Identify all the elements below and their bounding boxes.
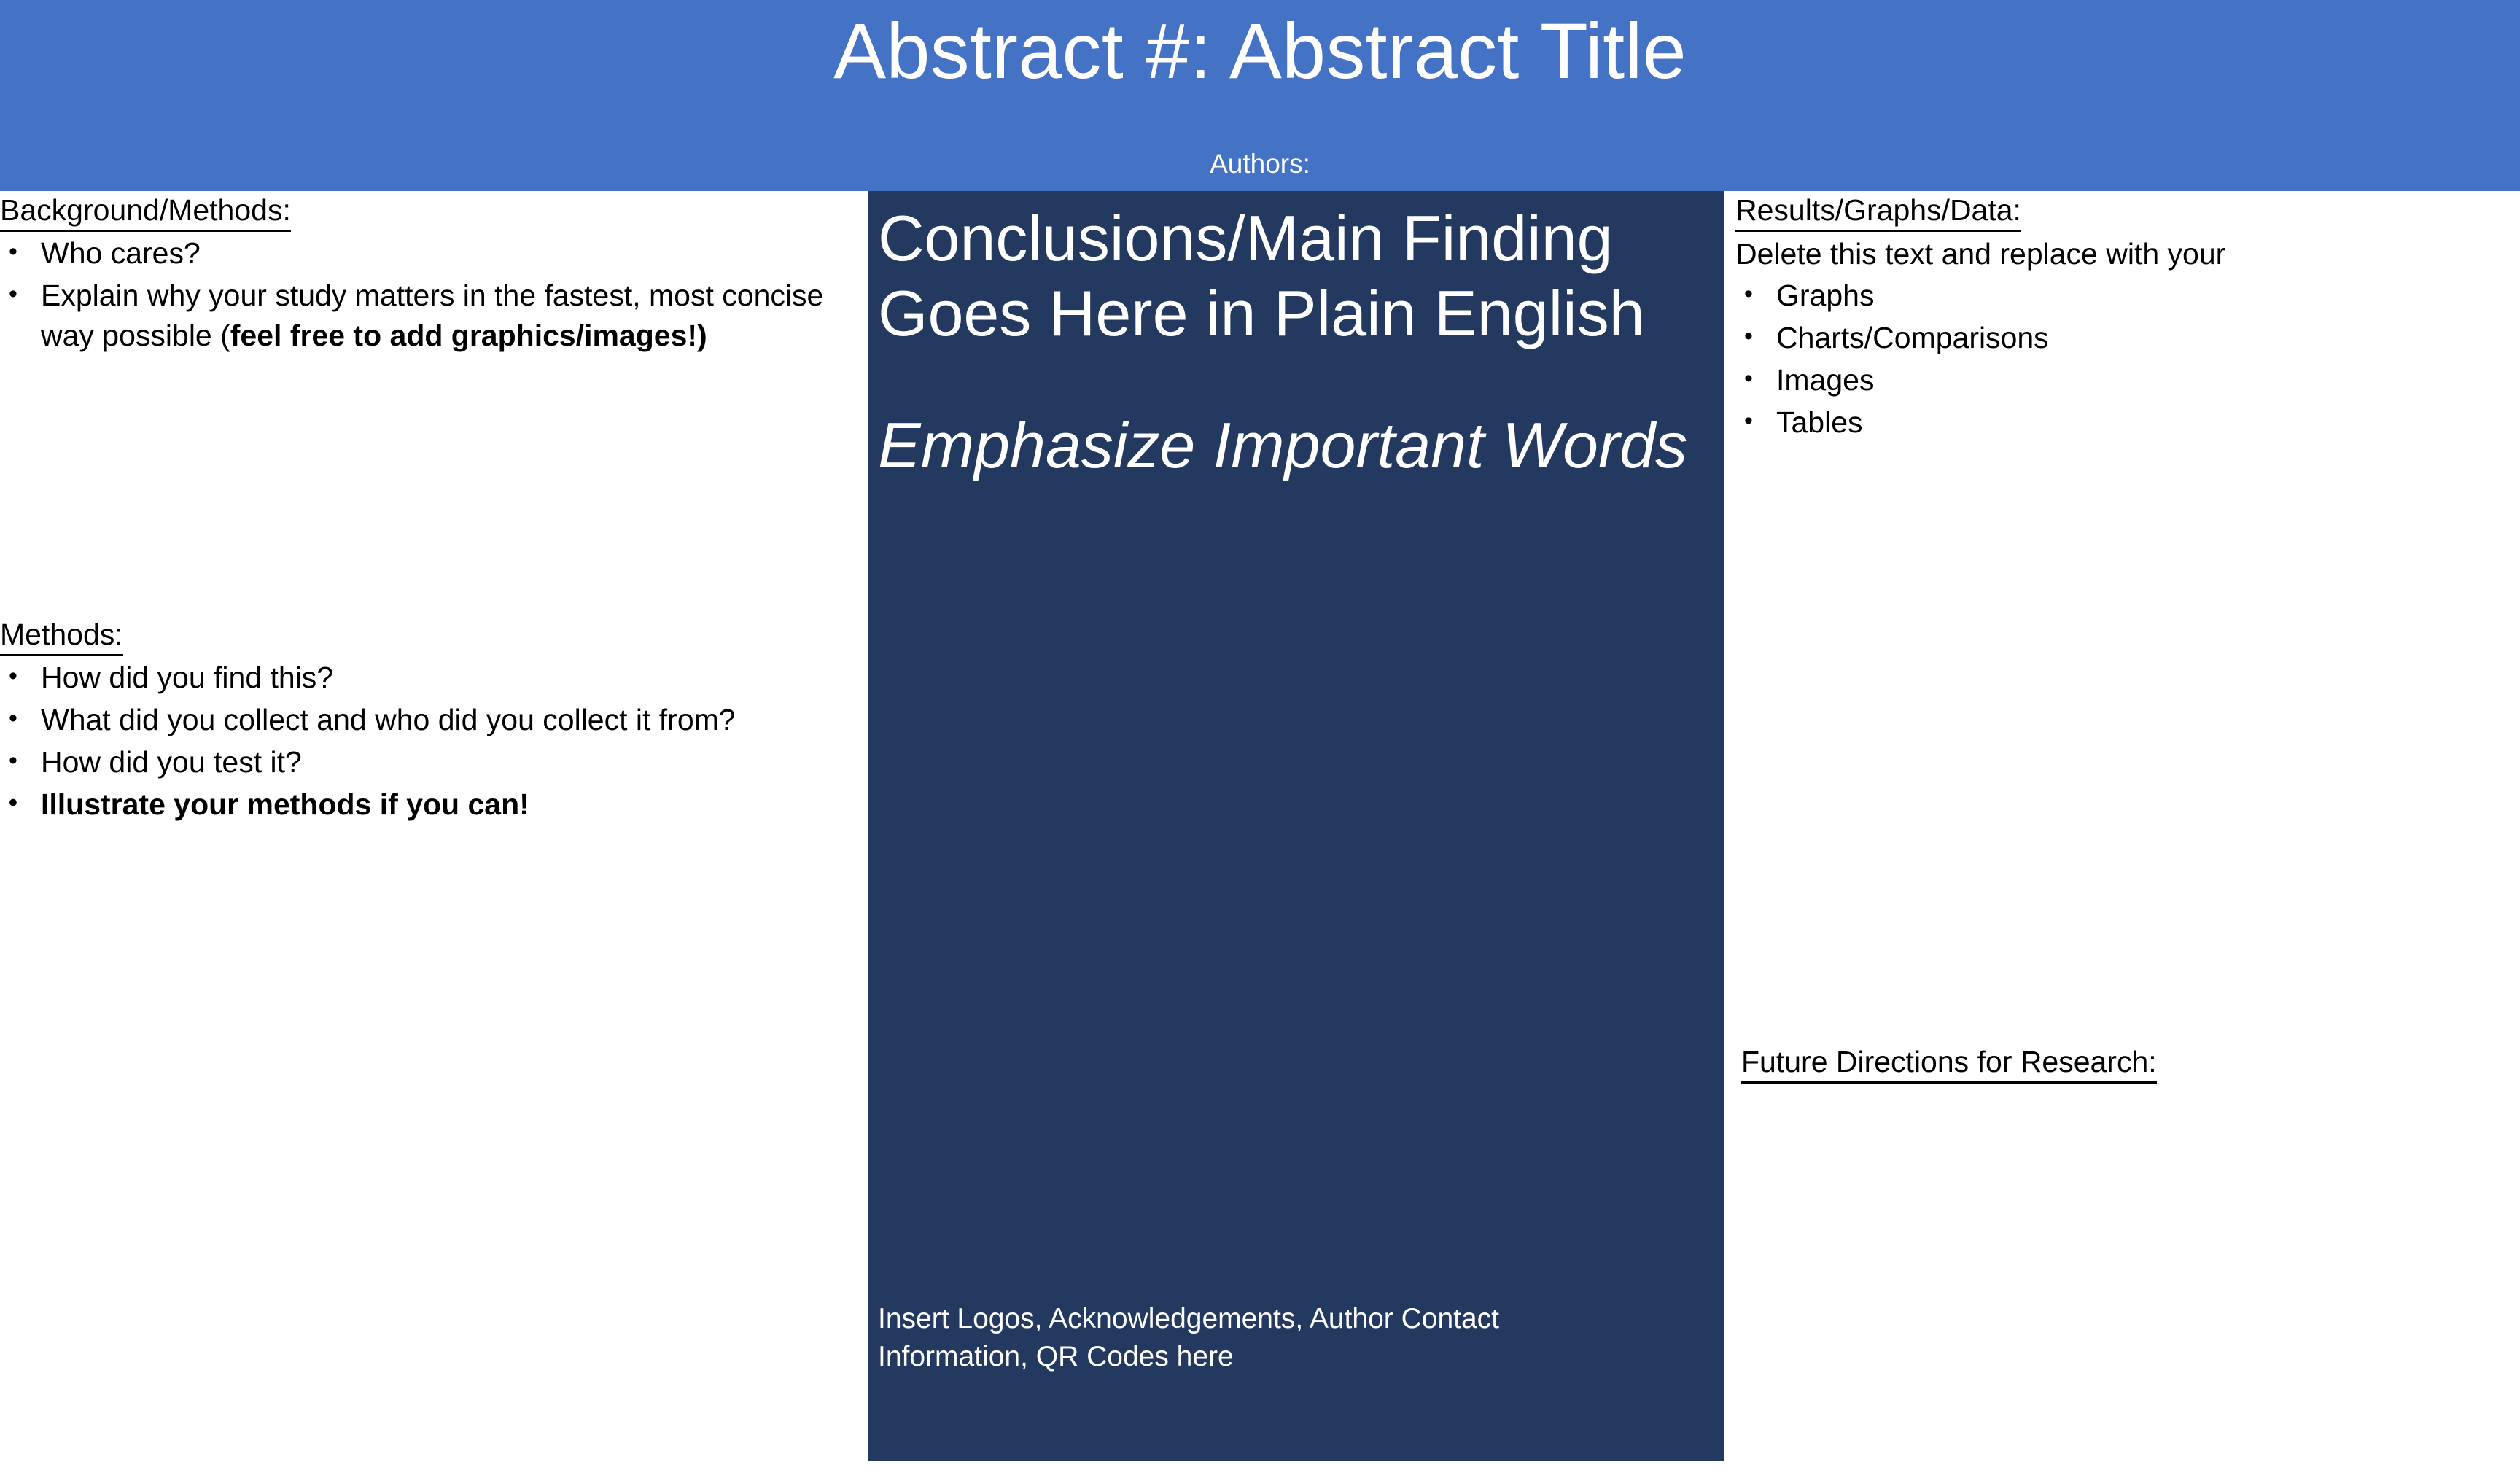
bullet-text: Who cares? [41,236,201,270]
list-item: Explain why your study matters in the fa… [0,276,860,356]
bullet-text: How did you test it? [41,745,302,779]
bullet-text: Images [1776,363,1874,397]
methods-heading: Methods: [0,615,123,656]
list-item: Images [1735,360,2505,400]
methods-bullet-list: How did you find this? What did you coll… [0,656,860,825]
methods-section: Methods: How did you find this? What did… [0,615,860,827]
methods-heading-row: Methods: [0,615,860,656]
bullet-text: Graphs [1776,279,1874,312]
authors-line: Authors: [0,148,2520,180]
background-heading-row: Background/Methods: [0,191,860,232]
bullet-text: Tables [1776,405,1863,439]
results-intro-text: Delete this text and replace with your [1735,232,2505,273]
future-directions-heading: Future Directions for Research: [1741,1043,2157,1084]
poster-body: Background/Methods: Who cares? Explain w… [0,191,2520,1470]
list-item: Illustrate your methods if you can! [0,785,860,825]
bullet-text: Illustrate your methods if you can! [41,787,529,821]
background-bullet-list: Who cares? Explain why your study matter… [0,232,860,356]
list-item: Who cares? [0,233,860,273]
bullet-text: How did you find this? [41,661,333,694]
bullet-text-bold: feel free to add graphics/images!) [230,319,707,352]
emphasize-important-words-text: Emphasize Important Words [874,351,1706,483]
page-title: Abstract #: Abstract Title [0,4,2520,97]
right-column: Results/Graphs/Data: Delete this text an… [1735,191,2508,1470]
future-directions-section: Future Directions for Research: [1741,1043,2505,1084]
results-graphs-data-heading: Results/Graphs/Data: [1735,191,2021,232]
conclusions-heading: Conclusions/Main Finding Goes Here in Pl… [874,201,1706,351]
logos-acknowledgements-note: Insert Logos, Acknowledgements, Author C… [878,1300,1614,1375]
list-item: How did you find this? [0,658,860,698]
poster-header-banner: Abstract #: Abstract Title Authors: [0,0,2520,191]
results-bullet-list: Graphs Charts/Comparisons Images Tables [1735,274,2505,443]
list-item: What did you collect and who did you col… [0,700,860,740]
future-heading-row: Future Directions for Research: [1741,1043,2505,1084]
bullet-text: What did you collect and who did you col… [41,703,736,736]
list-item: Graphs [1735,276,2505,316]
conclusions-panel: Conclusions/Main Finding Goes Here in Pl… [868,191,1724,1461]
list-item: Charts/Comparisons [1735,318,2505,358]
left-column: Background/Methods: Who cares? Explain w… [0,191,866,1470]
background-methods-heading: Background/Methods: [0,191,291,232]
list-item: Tables [1735,402,2505,443]
results-heading-row: Results/Graphs/Data: [1735,191,2505,232]
results-section: Results/Graphs/Data: Delete this text an… [1735,191,2505,445]
list-item: How did you test it? [0,742,860,782]
bullet-text: Charts/Comparisons [1776,321,2049,354]
background-methods-section: Background/Methods: Who cares? Explain w… [0,191,860,358]
